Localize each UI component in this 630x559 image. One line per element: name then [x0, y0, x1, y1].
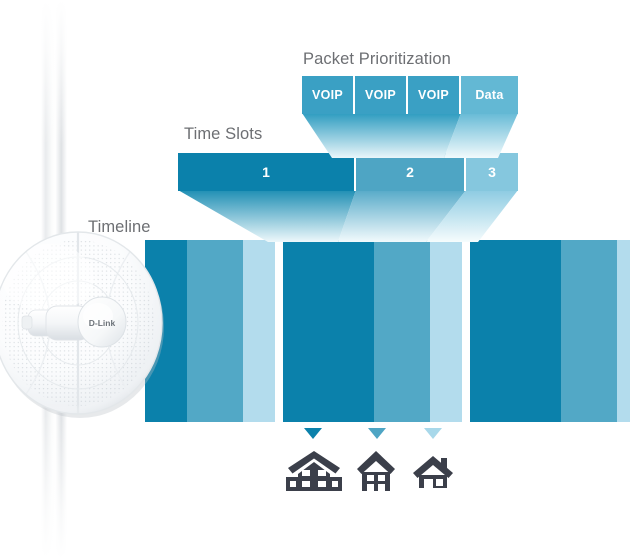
time-slot-1: 1	[178, 153, 356, 191]
time-slots-title: Time Slots	[184, 125, 262, 144]
timeline-block-3	[470, 240, 630, 422]
timeline-segment-slot-1	[470, 240, 561, 422]
diagram-canvas: Time Slots 123 Packet Prioritization VOI…	[0, 0, 630, 559]
house-medium-icon	[356, 450, 396, 497]
packet-cell-label: VOIP	[418, 88, 449, 102]
downlink-arrow-2	[368, 428, 386, 439]
packet-cell-1: VOIP	[302, 76, 355, 114]
packet-cell-label: VOIP	[312, 88, 343, 102]
dish-antenna: D-Link	[0, 228, 170, 418]
downlink-arrow-1	[304, 428, 322, 439]
timeline-segment-slot-1	[283, 240, 374, 422]
house-small-icon	[412, 455, 454, 494]
timeline-blocks	[145, 240, 613, 422]
timeline-segment-slot-2	[561, 240, 617, 422]
packet-cell-3: VOIP	[408, 76, 461, 114]
funnel-slots-to-timeline	[178, 190, 518, 242]
time-slot-label: 1	[262, 164, 270, 180]
time-slot-label: 2	[406, 164, 414, 180]
packet-cell-label: VOIP	[365, 88, 396, 102]
funnel-packets-to-slots	[302, 113, 518, 158]
timeline-segment-slot-3	[430, 240, 462, 422]
time-slot-2: 2	[356, 153, 466, 191]
dlink-logo: D-Link	[89, 318, 116, 328]
time-slots-row: 123	[178, 153, 518, 191]
time-slot-3: 3	[466, 153, 518, 191]
timeline-segment-slot-2	[374, 240, 430, 422]
time-slot-label: 3	[488, 164, 496, 180]
timeline-block-2	[283, 240, 462, 422]
timeline-segment-slot-2	[187, 240, 243, 422]
packet-cell-label: Data	[475, 88, 503, 102]
packet-cell-4: Data	[461, 76, 518, 114]
timeline-segment-slot-3	[617, 240, 630, 422]
downlink-arrow-3	[424, 428, 442, 439]
packet-prioritization-row: VOIPVOIPVOIPData	[302, 76, 518, 114]
timeline-segment-slot-3	[243, 240, 275, 422]
packet-prioritization-title: Packet Prioritization	[303, 50, 451, 69]
packet-cell-2: VOIP	[355, 76, 408, 114]
house-large-icon	[286, 450, 342, 497]
